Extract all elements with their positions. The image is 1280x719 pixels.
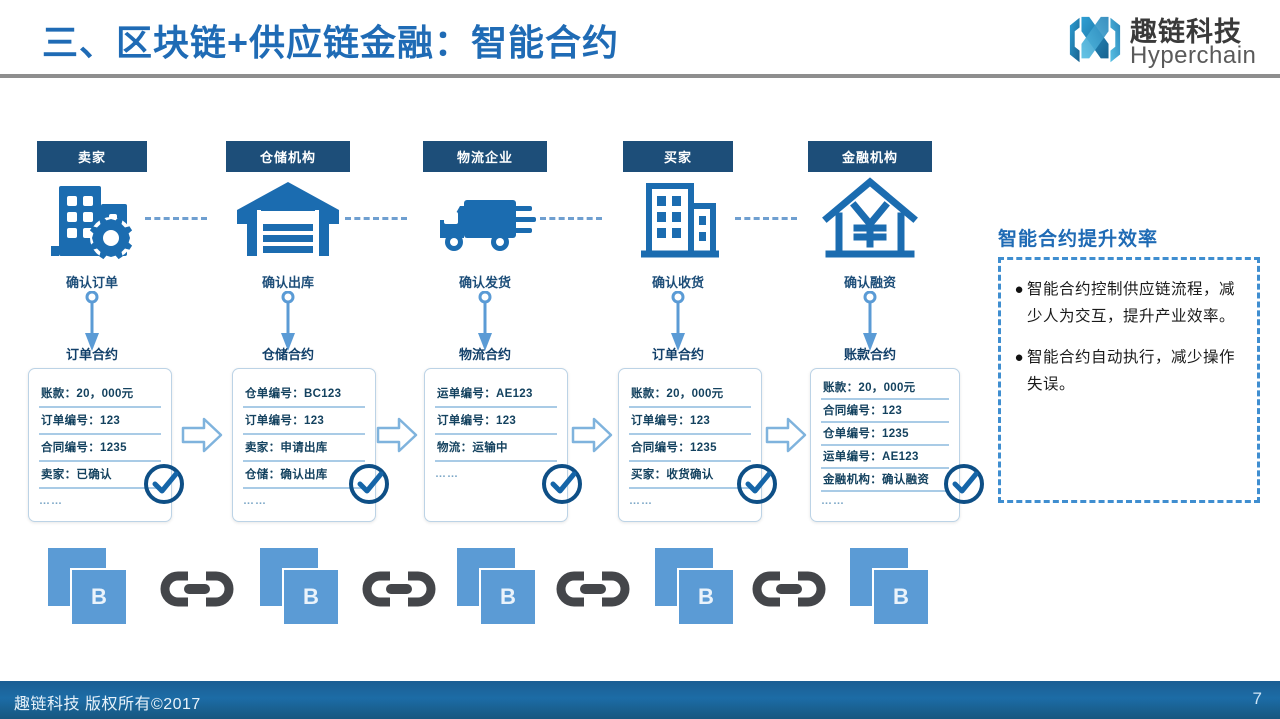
check-circle-icon: [942, 462, 986, 506]
card-line: 账款：20，000元: [629, 381, 751, 408]
card-line: 运单编号：AE123: [821, 446, 949, 469]
card-line: 订单编号：123: [629, 408, 751, 435]
card-line: 运单编号：AE123: [435, 381, 557, 408]
card-line: 买家：收货确认: [629, 462, 751, 489]
contract-title-order-1: 订单合约: [66, 344, 118, 363]
role-action-buyer: 确认收货: [652, 272, 704, 291]
card-ellipsis: ……: [629, 489, 751, 507]
block-front: B: [872, 568, 930, 626]
delivery-truck-icon: [430, 176, 540, 262]
check-circle-icon: [540, 462, 584, 506]
chain-link-icon: [752, 566, 826, 612]
slide-root: 三、区块链+供应链金融：智能合约 趣链科技 Hyperchain: [0, 0, 1280, 719]
dashed-connector-4: [735, 217, 797, 220]
dashed-connector-2: [345, 217, 407, 220]
check-circle-icon: [735, 462, 779, 506]
card-line: 卖家：申请出库: [243, 435, 365, 462]
role-badge-buyer[interactable]: 买家: [623, 141, 733, 172]
card-line: 合同编号：123: [821, 400, 949, 423]
efficiency-note: 智能合约提升效率 ● 智能合约控制供应链流程，减少人为交互，提升产业效率。 ● …: [998, 224, 1260, 503]
chain-link-icon: [362, 566, 436, 612]
role-action-warehouse: 确认出库: [262, 272, 314, 291]
contract-title-logistics: 物流合约: [459, 344, 511, 363]
page-title: 三、区块链+供应链金融：智能合约: [42, 14, 619, 66]
warehouse-icon: [233, 176, 343, 262]
slide-header: 三、区块链+供应链金融：智能合约 趣链科技 Hyperchain: [0, 0, 1280, 76]
role-badge-warehouse[interactable]: 仓储机构: [226, 141, 350, 172]
role-action-financial: 确认融资: [844, 272, 896, 291]
slide-footer: 趣链科技 版权所有©2017 7: [0, 681, 1280, 719]
arrow-right-icon: [375, 416, 419, 454]
role-badge-seller[interactable]: 卖家: [37, 141, 147, 172]
block-front: B: [70, 568, 128, 626]
factory-gear-icon: [37, 176, 147, 262]
card-line: 仓单编号：BC123: [243, 381, 365, 408]
card-ellipsis: ……: [435, 462, 557, 480]
note-bullet-item: ● 智能合约控制供应链流程，减少人为交互，提升产业效率。: [1011, 276, 1243, 330]
block-pair: B: [655, 548, 745, 628]
card-line: 物流：运输中: [435, 435, 557, 462]
block-front: B: [479, 568, 537, 626]
copyright-text: 趣链科技 版权所有©2017: [14, 690, 201, 714]
note-box: ● 智能合约控制供应链流程，减少人为交互，提升产业效率。 ● 智能合约自动执行，…: [998, 257, 1260, 503]
block-pair: B: [850, 548, 940, 628]
card-line: 订单编号：123: [435, 408, 557, 435]
contract-title-order-2: 订单合约: [652, 344, 704, 363]
contract-title-warehouse: 仓储合约: [262, 344, 314, 363]
arrow-right-icon: [180, 416, 224, 454]
role-action-seller: 确认订单: [66, 272, 118, 291]
role-badge-logistics[interactable]: 物流企业: [423, 141, 547, 172]
hyperchain-hexagon-logo-icon: [1066, 12, 1124, 68]
bullet-glyph: ●: [1011, 276, 1027, 330]
note-bullet-text: 智能合约自动执行，减少操作失误。: [1027, 344, 1243, 398]
bullet-glyph: ●: [1011, 344, 1027, 398]
arrow-right-icon: [570, 416, 614, 454]
card-line: 合同编号：1235: [39, 435, 161, 462]
note-bullet-text: 智能合约控制供应链流程，减少人为交互，提升产业效率。: [1027, 276, 1243, 330]
block-pair: B: [260, 548, 350, 628]
block-pair: B: [457, 548, 547, 628]
bank-yuan-house-icon: [815, 176, 925, 262]
dashed-connector-3: [540, 217, 602, 220]
note-bullet-item: ● 智能合约自动执行，减少操作失误。: [1011, 344, 1243, 398]
card-line: 账款：20，000元: [39, 381, 161, 408]
card-ellipsis: ……: [821, 492, 949, 507]
dashed-connector-1: [145, 217, 207, 220]
card-line: 订单编号：123: [39, 408, 161, 435]
page-number: 7: [1253, 689, 1262, 709]
office-building-icon: [623, 176, 733, 262]
arrow-right-icon: [764, 416, 808, 454]
check-circle-icon: [142, 462, 186, 506]
block-pair: B: [48, 548, 138, 628]
logo-english-name: Hyperchain: [1130, 42, 1256, 70]
card-line: 合同编号：1235: [629, 435, 751, 462]
card-line: 账款：20，000元: [821, 377, 949, 400]
card-line: 订单编号：123: [243, 408, 365, 435]
role-badge-financial[interactable]: 金融机构: [808, 141, 932, 172]
card-line: 仓单编号：1235: [821, 423, 949, 446]
block-front: B: [677, 568, 735, 626]
contract-card-receivable[interactable]: 账款：20，000元 合同编号：123 仓单编号：1235 运单编号：AE123…: [810, 368, 960, 522]
card-line: 金融机构：确认融资: [821, 469, 949, 492]
chain-link-icon: [160, 566, 234, 612]
brand-logo: 趣链科技 Hyperchain: [1066, 10, 1266, 72]
note-title: 智能合约提升效率: [998, 224, 1260, 251]
contract-title-receivable: 账款合约: [844, 344, 896, 363]
block-front: B: [282, 568, 340, 626]
role-action-logistics: 确认发货: [459, 272, 511, 291]
chain-link-icon: [556, 566, 630, 612]
check-circle-icon: [347, 462, 391, 506]
